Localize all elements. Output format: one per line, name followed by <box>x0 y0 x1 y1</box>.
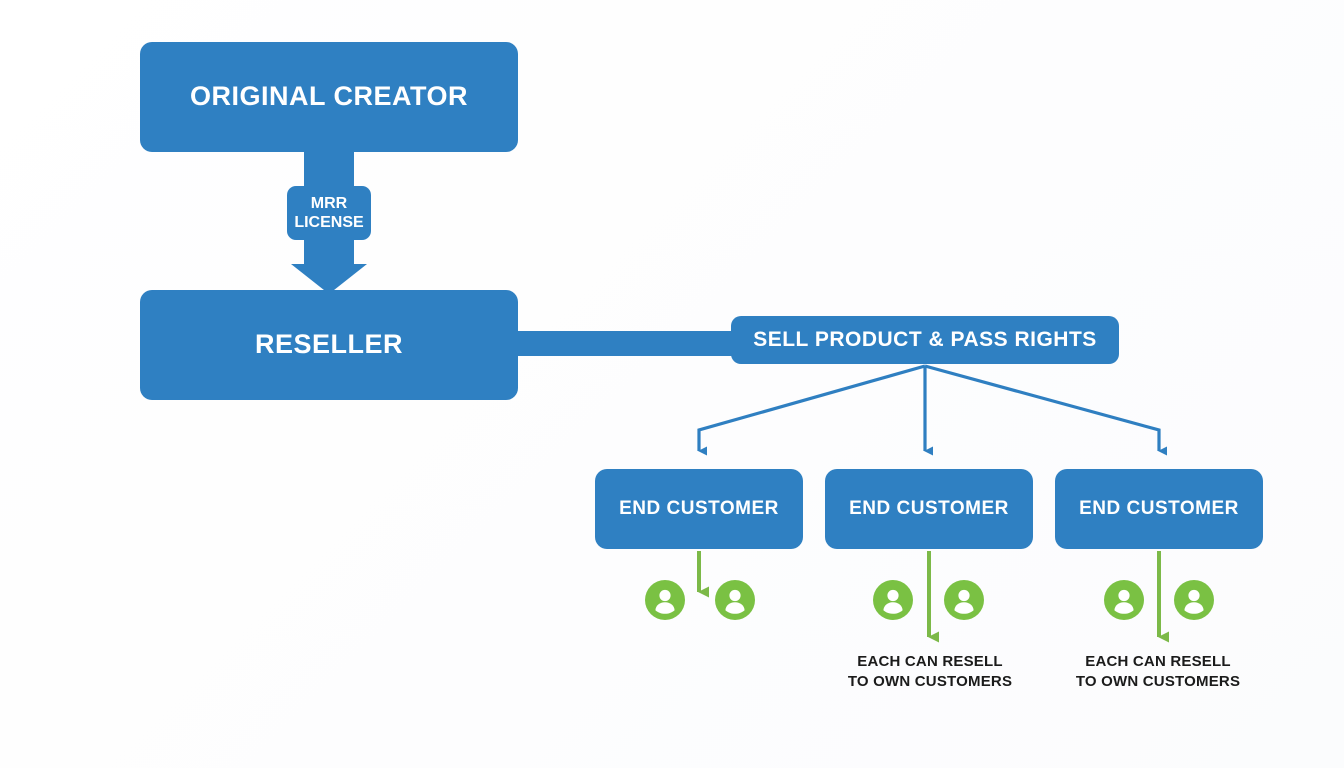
node-reseller-label: RESELLER <box>255 329 403 360</box>
node-end-customer-3[interactable]: END CUSTOMER <box>1055 469 1263 549</box>
resell-caption-2-line1: EACH CAN RESELL <box>800 652 1060 672</box>
diagram-canvas: ORIGINAL CREATOR MRR LICENSE RESELLER SE… <box>0 0 1344 768</box>
person-icon <box>873 580 913 620</box>
node-sell-product-pass-rights[interactable]: SELL PRODUCT & PASS RIGHTS <box>731 316 1119 364</box>
person-icon <box>1104 580 1144 620</box>
resell-caption-3: EACH CAN RESELL TO OWN CUSTOMERS <box>1028 652 1288 693</box>
node-original-creator-label: ORIGINAL CREATOR <box>190 81 468 112</box>
resell-caption-3-line2: TO OWN CUSTOMERS <box>1028 672 1288 692</box>
mrr-license-chip-label: MRR LICENSE <box>294 194 363 232</box>
node-end-customer-1[interactable]: END CUSTOMER <box>595 469 803 549</box>
mrr-license-line2: LICENSE <box>294 214 363 231</box>
reseller-to-sell-rights-connector <box>505 331 741 356</box>
person-icon <box>1174 580 1214 620</box>
node-original-creator[interactable]: ORIGINAL CREATOR <box>140 42 518 152</box>
node-reseller[interactable]: RESELLER <box>140 290 518 400</box>
node-end-customer-2-label: END CUSTOMER <box>849 498 1009 520</box>
mrr-license-line1: MRR <box>311 195 347 212</box>
person-icon <box>944 580 984 620</box>
mrr-license-chip[interactable]: MRR LICENSE <box>287 186 371 240</box>
resell-caption-2: EACH CAN RESELL TO OWN CUSTOMERS <box>800 652 1060 693</box>
node-end-customer-3-label: END CUSTOMER <box>1079 498 1239 520</box>
person-icon <box>715 580 755 620</box>
person-icon <box>645 580 685 620</box>
resell-caption-3-line1: EACH CAN RESELL <box>1028 652 1288 672</box>
node-end-customer-2[interactable]: END CUSTOMER <box>825 469 1033 549</box>
node-end-customer-1-label: END CUSTOMER <box>619 498 779 520</box>
branch-arrow-left <box>699 366 925 451</box>
resell-caption-2-line2: TO OWN CUSTOMERS <box>800 672 1060 692</box>
branch-arrow-right <box>925 366 1159 451</box>
node-sell-rights-label: SELL PRODUCT & PASS RIGHTS <box>753 328 1097 352</box>
